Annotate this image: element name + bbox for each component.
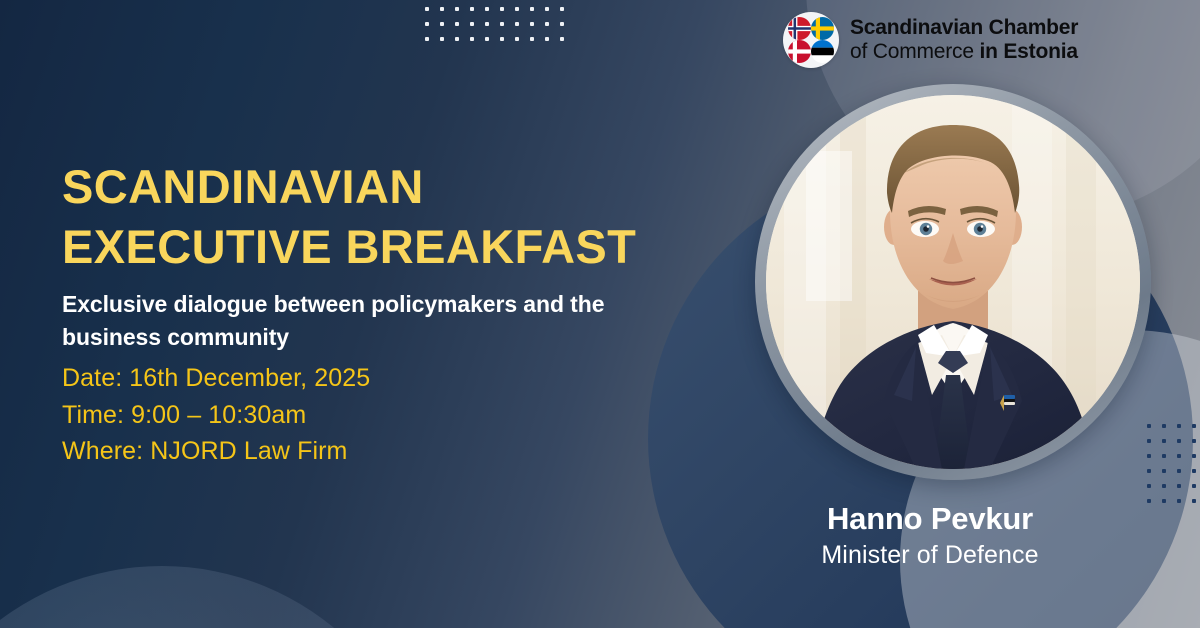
dot bbox=[470, 22, 474, 26]
dot bbox=[455, 37, 459, 41]
dot bbox=[560, 37, 564, 41]
dot-grid-top bbox=[425, 7, 564, 41]
event-time: Time: 9:00 – 10:30am bbox=[62, 397, 370, 434]
dot bbox=[500, 22, 504, 26]
dot bbox=[1147, 484, 1151, 488]
dot bbox=[485, 7, 489, 11]
logo-wordmark: Scandinavian Chamber of Commerce in Esto… bbox=[850, 16, 1078, 63]
sweden-flag-icon bbox=[811, 17, 834, 40]
dot bbox=[1162, 469, 1166, 473]
dot bbox=[470, 37, 474, 41]
dot bbox=[545, 22, 549, 26]
page-title: SCANDINAVIAN EXECUTIVE BREAKFAST bbox=[62, 157, 722, 275]
dot bbox=[1162, 484, 1166, 488]
dot bbox=[1177, 439, 1181, 443]
dot bbox=[470, 7, 474, 11]
dot bbox=[1147, 424, 1151, 428]
dot bbox=[515, 22, 519, 26]
dot bbox=[425, 37, 429, 41]
dot bbox=[1162, 454, 1166, 458]
dot bbox=[1177, 469, 1181, 473]
dot bbox=[1177, 454, 1181, 458]
logo-line-2-bold: in Estonia bbox=[979, 40, 1077, 63]
dot-grid-bottom-right bbox=[1147, 424, 1196, 503]
dot bbox=[500, 7, 504, 11]
estonia-flag-icon bbox=[811, 40, 834, 63]
decorative-circle-bottom-left bbox=[0, 566, 432, 628]
headline-line-2: EXECUTIVE BREAKFAST bbox=[62, 217, 722, 276]
dot bbox=[560, 7, 564, 11]
norway-flag-icon bbox=[788, 17, 811, 40]
dot bbox=[1162, 499, 1166, 503]
dot bbox=[1192, 499, 1196, 503]
speaker-role: Minister of Defence bbox=[700, 540, 1160, 570]
logo-line-1: Scandinavian Chamber bbox=[850, 16, 1078, 40]
headline-line-1: SCANDINAVIAN bbox=[62, 160, 424, 213]
logo-line-2: of Commerce in Estonia bbox=[850, 40, 1078, 64]
logo-line-2-regular: of Commerce bbox=[850, 40, 979, 63]
dot bbox=[545, 7, 549, 11]
dot bbox=[1147, 439, 1151, 443]
dot bbox=[425, 7, 429, 11]
denmark-flag-icon bbox=[788, 40, 811, 63]
dot bbox=[515, 37, 519, 41]
logo-flag-mark bbox=[783, 12, 839, 68]
dot bbox=[1192, 424, 1196, 428]
dot bbox=[455, 22, 459, 26]
dot bbox=[1162, 424, 1166, 428]
dot bbox=[425, 22, 429, 26]
dot bbox=[1177, 499, 1181, 503]
dot bbox=[515, 7, 519, 11]
dot bbox=[1162, 439, 1166, 443]
dot bbox=[560, 22, 564, 26]
subtitle: Exclusive dialogue between policymakers … bbox=[62, 288, 702, 354]
dot bbox=[1177, 484, 1181, 488]
dot bbox=[440, 7, 444, 11]
speaker-portrait-frame bbox=[755, 84, 1151, 480]
dot bbox=[530, 37, 534, 41]
speaker-portrait bbox=[766, 95, 1140, 469]
dot bbox=[545, 37, 549, 41]
speaker-caption: Hanno Pevkur Minister of Defence bbox=[700, 500, 1160, 570]
event-details: Date: 16th December, 2025 Time: 9:00 – 1… bbox=[62, 360, 370, 470]
event-poster: Scandinavian Chamber of Commerce in Esto… bbox=[0, 0, 1200, 628]
chamber-logo[interactable]: Scandinavian Chamber of Commerce in Esto… bbox=[783, 12, 1078, 68]
speaker-name: Hanno Pevkur bbox=[700, 500, 1160, 537]
dot bbox=[1192, 469, 1196, 473]
dot bbox=[1147, 454, 1151, 458]
dot bbox=[1147, 469, 1151, 473]
dot bbox=[1192, 484, 1196, 488]
dot bbox=[455, 7, 459, 11]
dot bbox=[500, 37, 504, 41]
dot bbox=[1177, 424, 1181, 428]
dot bbox=[485, 37, 489, 41]
dot bbox=[485, 22, 489, 26]
dot bbox=[530, 7, 534, 11]
dot bbox=[1192, 439, 1196, 443]
dot bbox=[530, 22, 534, 26]
event-venue: Where: NJORD Law Firm bbox=[62, 433, 370, 470]
dot bbox=[440, 37, 444, 41]
event-date: Date: 16th December, 2025 bbox=[62, 360, 370, 397]
dot bbox=[440, 22, 444, 26]
dot bbox=[1192, 454, 1196, 458]
